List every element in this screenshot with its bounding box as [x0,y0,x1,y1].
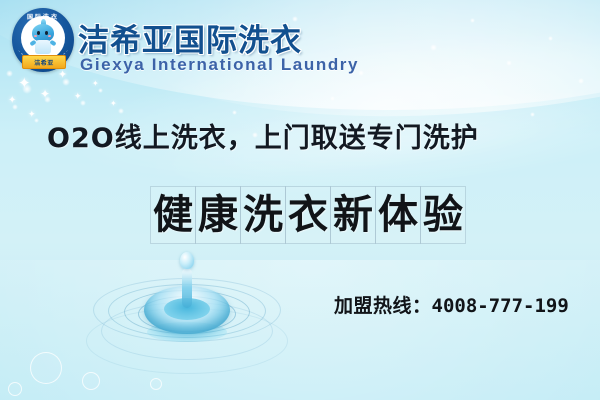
splash-column [182,268,192,308]
star-sparkle-7: ✦ [110,100,117,108]
badge-banner-text: 洁希亚 [34,58,54,67]
slogan-char: 体 [378,195,418,235]
sparkle-5 [34,118,39,123]
sparkle-17 [548,36,553,41]
falling-droplet [180,252,194,269]
star-sparkle-2: ✦ [8,96,16,106]
brand-logo[interactable]: 国际洗衣 洁希亚 [8,6,308,78]
star-sparkle-1: ✦ [40,88,50,100]
slogan-cell-2: 洗 [240,186,286,244]
bubble-2 [8,382,22,396]
sparkle-16 [506,60,512,66]
sparkle-6 [98,88,103,93]
slogan-cell-3: 衣 [285,186,331,244]
brand-name-english: Giexya International Laundry [80,55,359,75]
logo-badge-icon: 国际洗衣 洁希亚 [12,8,74,72]
bubble-1 [82,372,100,390]
slogan-cell-0: 健 [150,186,196,244]
slogan-cell-4: 新 [330,186,376,244]
sparkle-1 [44,96,51,103]
sparkle-4 [80,100,86,106]
sparkle-18 [578,78,584,84]
slogan-cell-6: 验 [420,186,466,244]
laundry-promo-banner: ✦✦✦✦✦✦✦✦ 国际洗衣 [0,0,600,400]
sparkle-2 [12,104,18,110]
sparkle-3 [62,78,70,86]
slogan-cell-1: 康 [195,186,241,244]
slogan-grid: 健康洗衣新体验 [150,186,466,244]
slogan-char: 验 [423,195,463,235]
bubble-3 [150,378,162,390]
badge-ring: 国际洗衣 洁希亚 [12,8,74,72]
slogan-char: 康 [198,195,238,235]
slogan-char: 衣 [288,195,328,235]
badge-name-banner: 洁希亚 [22,55,66,69]
sparkle-15 [470,18,475,23]
star-sparkle-0: ✦ [18,76,31,91]
sparkle-7 [118,108,124,114]
sparkle-10 [232,110,237,115]
star-sparkle-5: ✦ [28,110,36,119]
sparkle-12 [330,96,335,101]
hotline-number: 4008-777-199 [432,295,569,317]
hotline-text: 加盟热线：4008-777-199 [334,291,569,318]
sparkle-0 [22,84,32,94]
mascot-body [35,40,51,54]
sparkle-14 [430,44,437,51]
brand-name-chinese: 洁希亚国际洗衣 [78,15,302,60]
star-sparkle-6: ✦ [92,80,99,88]
slogan-char: 新 [333,195,373,235]
headline-text: O2O线上洗衣，上门取送专门洗护 [47,116,479,155]
mascot-eye-left [37,31,40,35]
water-droplet-splash-graphic [92,250,282,370]
mascot-cheek-right [48,35,51,37]
hotline-label: 加盟热线： [334,295,432,317]
slogan-char: 健 [153,195,193,235]
mascot-cheek-left [34,35,37,37]
star-sparkle-4: ✦ [74,92,82,101]
slogan-cell-5: 体 [375,186,421,244]
water-droplet-mascot-icon [32,24,54,54]
bubble-0 [30,352,62,384]
sparkle-21 [530,112,535,117]
slogan-char: 洗 [243,195,283,235]
